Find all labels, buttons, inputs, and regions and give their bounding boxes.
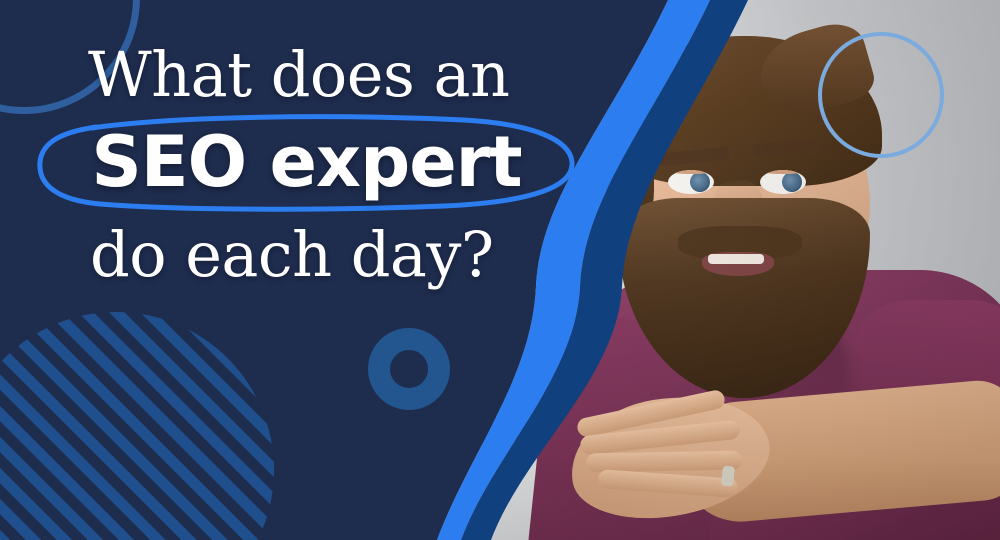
headline-line-1: What does an xyxy=(88,44,620,106)
headline-block: What does an SEO expert do each day? xyxy=(0,0,620,540)
thumbnail-canvas: What does an SEO expert do each day? xyxy=(0,0,1000,540)
headline-line-3: do each day? xyxy=(90,224,620,286)
highlight-group: SEO expert xyxy=(34,114,579,210)
ring-photo-icon xyxy=(818,32,944,158)
headline-highlight: SEO expert xyxy=(91,127,521,197)
